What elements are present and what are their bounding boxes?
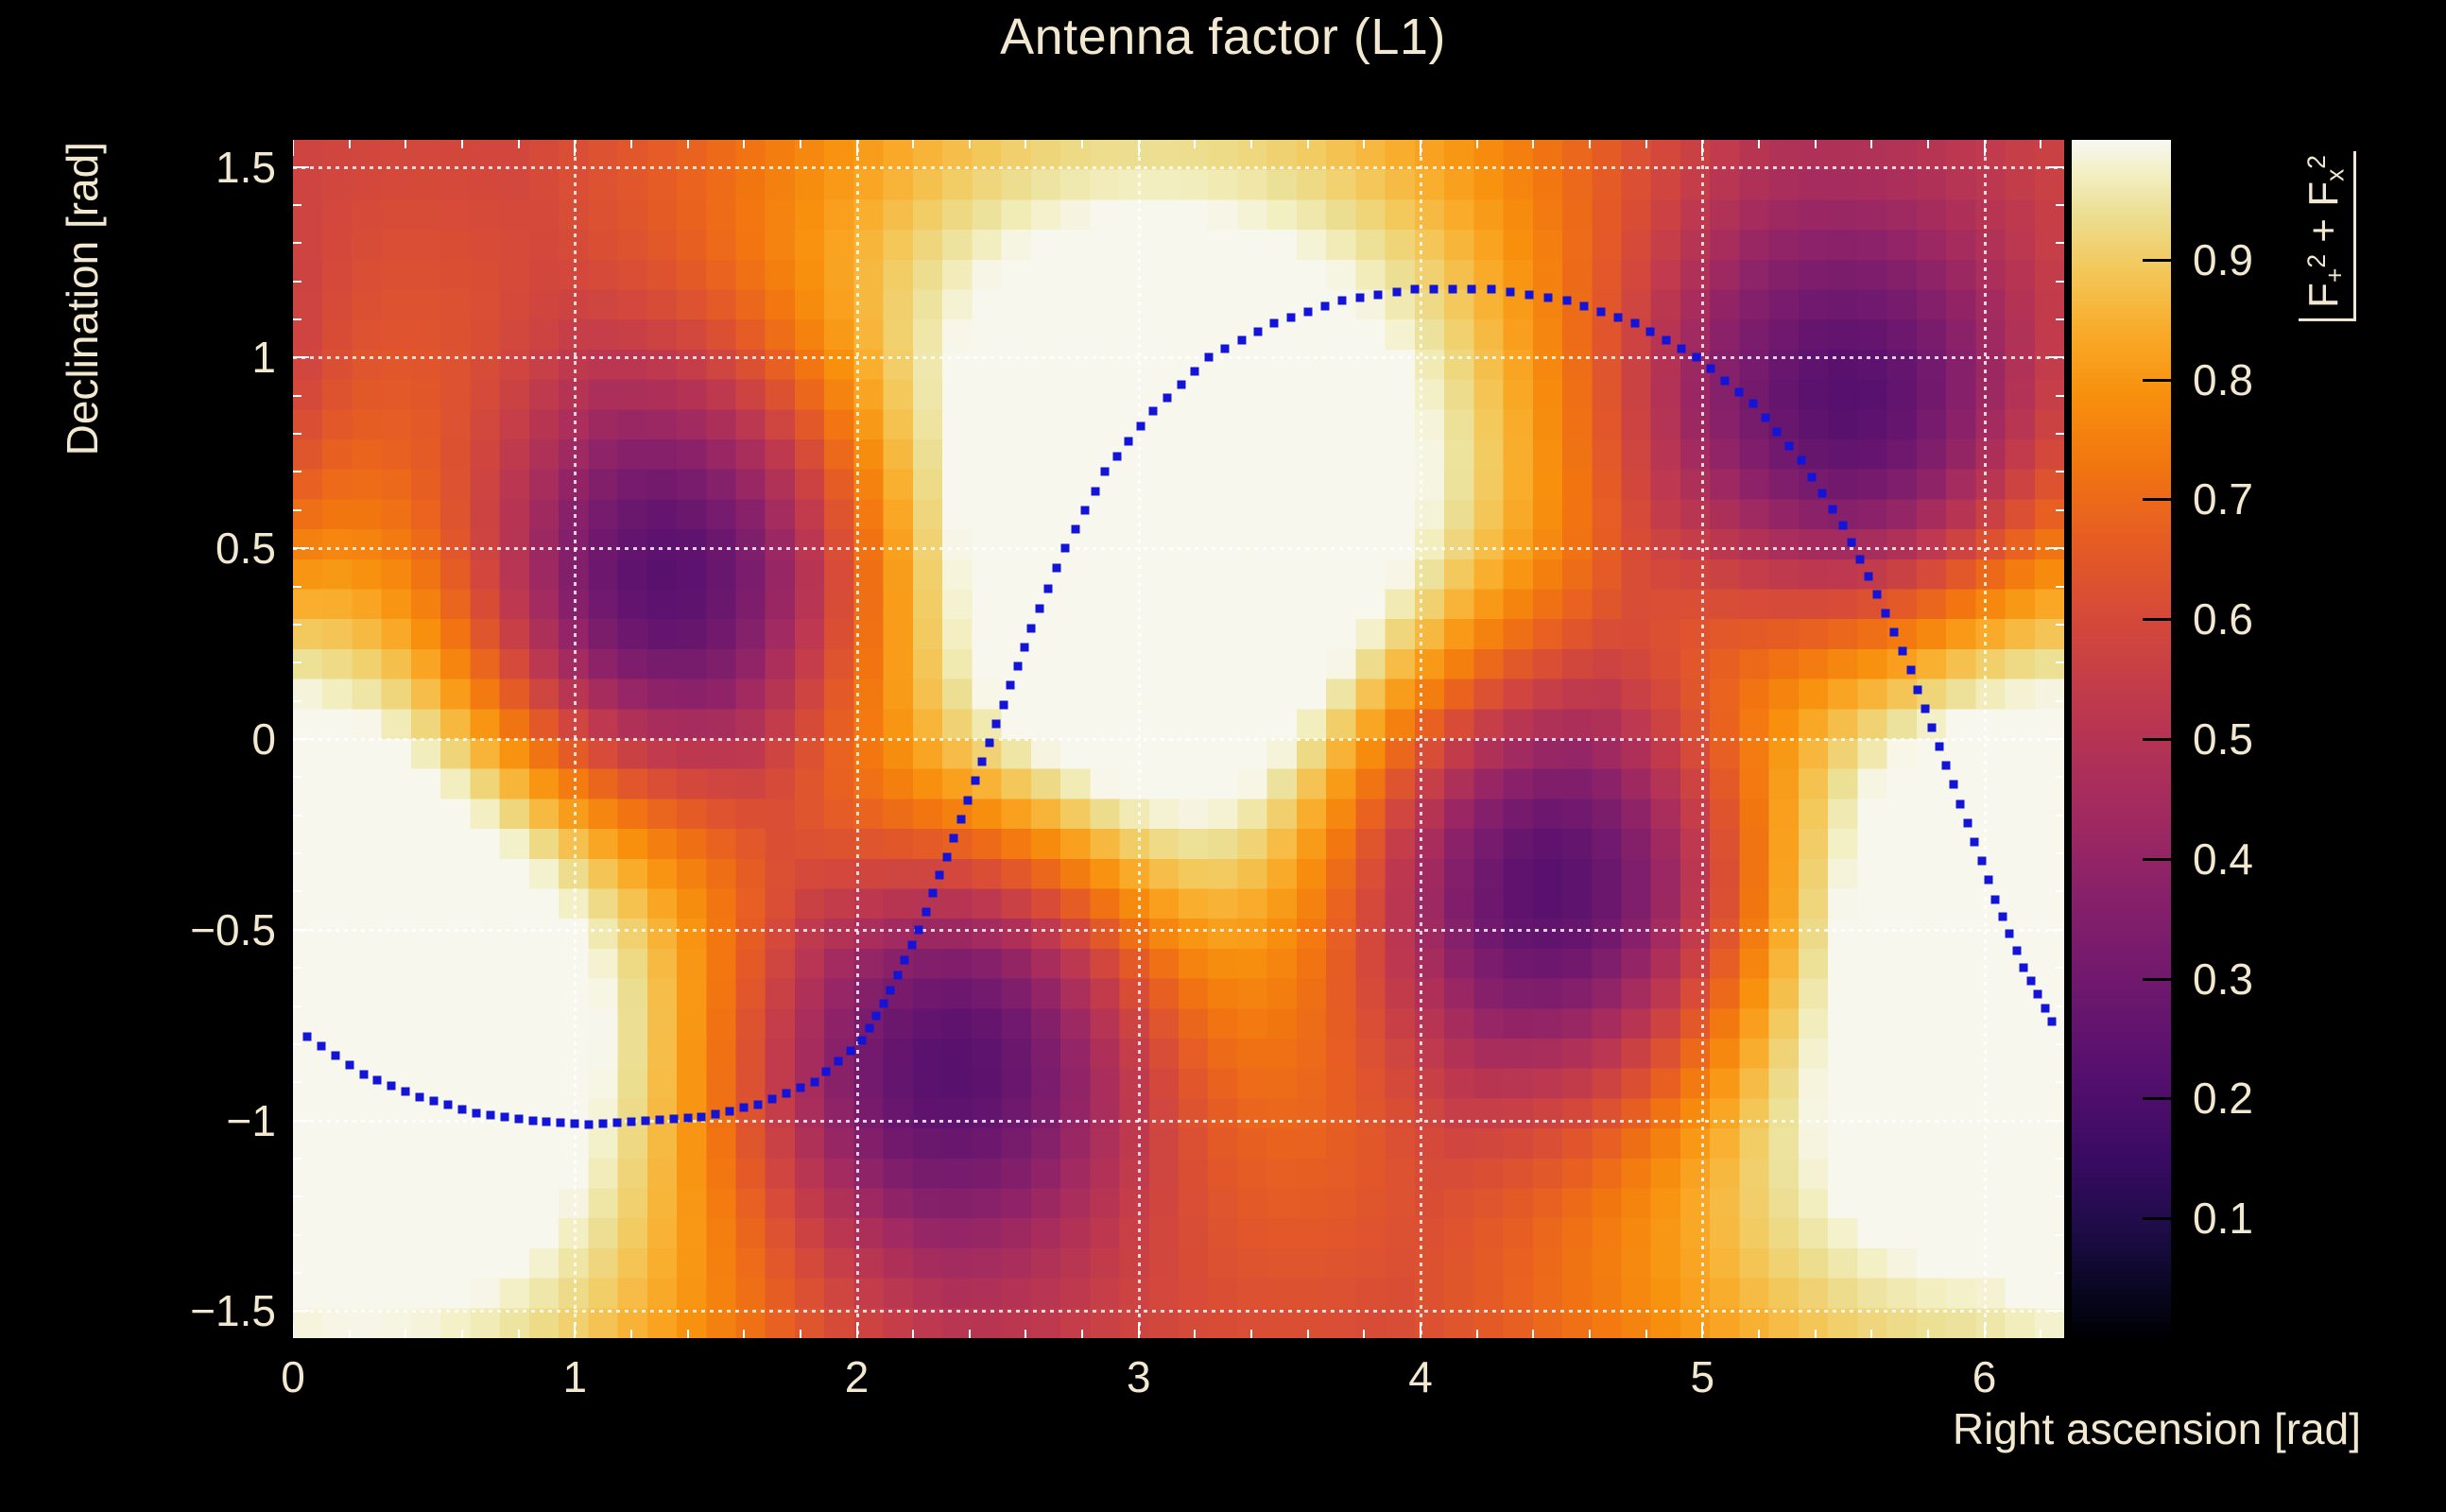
galactic-plane-marker <box>457 1105 466 1113</box>
galactic-plane-marker <box>907 940 916 949</box>
x-tick-label: 5 <box>1690 1351 1714 1402</box>
galactic-plane-marker <box>1721 376 1730 385</box>
galactic-plane-marker <box>1873 590 1882 598</box>
x-tick-label: 3 <box>1127 1351 1151 1402</box>
galactic-plane-marker <box>317 1041 325 1050</box>
galactic-plane-marker <box>1320 301 1329 310</box>
galactic-plane-marker <box>1221 345 1230 353</box>
galactic-plane-marker <box>1985 876 1993 885</box>
galactic-plane-marker <box>1337 296 1346 304</box>
galactic-plane-marker <box>1081 506 1090 514</box>
galactic-plane-marker <box>1027 624 1036 632</box>
galactic-plane-marker <box>500 1112 508 1121</box>
galactic-plane-marker <box>1856 556 1865 564</box>
galactic-plane-marker <box>901 956 909 965</box>
galactic-plane-marker <box>1269 319 1278 328</box>
galactic-plane-marker <box>1013 662 1022 671</box>
plus-operator: + <box>2300 207 2347 243</box>
colorbar-tick-label: 0.1 <box>2193 1193 2253 1244</box>
galactic-plane-marker <box>698 1112 706 1121</box>
galactic-plane-marker <box>1205 353 1214 362</box>
galactic-plane-marker <box>835 1057 843 1066</box>
colorbar-tick-label: 0.7 <box>2193 473 2253 524</box>
galactic-plane-marker <box>1487 284 1495 293</box>
colorbar-tick-mark <box>2143 498 2171 501</box>
galactic-plane-marker <box>1977 857 1986 866</box>
galactic-plane-marker <box>1303 307 1312 316</box>
galactic-plane-marker <box>893 971 902 980</box>
colorbar-tick-label: 0.8 <box>2193 354 2253 405</box>
galactic-plane-marker <box>810 1078 818 1087</box>
galactic-plane-marker <box>1906 666 1915 675</box>
f-cross-term: Fx2 <box>2300 155 2347 207</box>
galactic-plane-marker <box>486 1110 494 1119</box>
galactic-plane-marker <box>514 1114 523 1123</box>
galactic-plane-marker <box>1899 647 1907 656</box>
galactic-plane-marker <box>669 1114 678 1123</box>
galactic-plane-marker <box>1237 336 1246 345</box>
colorbar-tick-mark <box>2143 259 2171 262</box>
galactic-plane-marker <box>1137 422 1145 431</box>
galactic-plane-marker <box>971 777 979 785</box>
galactic-plane-marker <box>2020 964 2028 972</box>
galactic-plane-marker <box>887 987 895 995</box>
galactic-plane-marker <box>879 999 887 1007</box>
colorbar-tick-label: 0.2 <box>2193 1073 2253 1124</box>
galactic-plane-marker <box>2026 977 2035 986</box>
galactic-plane-marker <box>915 925 923 934</box>
galactic-plane-marker <box>1748 399 1757 407</box>
galactic-plane-marker <box>1543 293 1552 301</box>
galactic-plane-marker <box>1100 468 1109 476</box>
galactic-plane-marker <box>1177 380 1185 388</box>
galactic-plane-marker <box>1797 456 1805 465</box>
galactic-plane-marker <box>922 907 930 916</box>
galactic-plane-marker <box>1949 781 1957 789</box>
galactic-plane-marker <box>950 833 958 842</box>
colorbar-tick-mark <box>2143 618 2171 621</box>
galactic-plane-marker <box>2034 990 2042 999</box>
galactic-plane-marker <box>430 1097 439 1106</box>
galactic-plane-marker <box>1784 442 1793 451</box>
galactic-plane-marker <box>2048 1017 2057 1025</box>
galactic-plane-marker <box>1506 287 1514 296</box>
galactic-plane-marker <box>782 1090 790 1098</box>
galactic-plane-marker <box>1882 609 1890 617</box>
x-tick-label: 2 <box>845 1351 870 1402</box>
galactic-plane-marker <box>1761 413 1769 421</box>
galactic-plane-marker <box>1163 393 1171 402</box>
galactic-plane-marker <box>846 1046 854 1055</box>
galactic-plane-marker <box>1693 353 1701 362</box>
galactic-plane-marker <box>402 1088 410 1096</box>
colorbar-tick-label: 0.4 <box>2193 833 2253 885</box>
y-axis-title: Declination [rad] <box>57 142 108 455</box>
y-tick-label: 1 <box>251 332 276 383</box>
galactic-plane-marker <box>557 1118 565 1126</box>
galactic-plane-marker <box>1580 301 1589 310</box>
galactic-plane-marker <box>1374 290 1383 299</box>
x-axis-title: Right ascension [rad] <box>1953 1403 2361 1454</box>
colorbar <box>2072 140 2171 1338</box>
colorbar-tick-mark <box>2143 379 2171 382</box>
galactic-plane-marker <box>1735 387 1744 396</box>
galactic-plane-marker <box>2041 1004 2049 1012</box>
galactic-plane-marker <box>1091 487 1099 495</box>
galactic-plane-marker <box>1524 290 1533 299</box>
galactic-plane-marker <box>1818 489 1827 497</box>
galactic-plane-marker <box>858 1036 867 1044</box>
galactic-plane-marker <box>1865 573 1873 581</box>
galactic-plane-marker <box>1596 307 1605 316</box>
galactic-plane-marker <box>1935 743 1943 751</box>
galactic-plane-marker <box>1286 314 1295 322</box>
colorbar-tick-mark <box>2143 1097 2171 1100</box>
colorbar-tick-mark <box>2143 978 2171 981</box>
galactic-plane-marker <box>1125 438 1133 446</box>
y-tick-label: 0 <box>251 713 276 765</box>
colorbar-tick-mark <box>2143 858 2171 861</box>
galactic-plane-marker <box>1148 406 1157 415</box>
galactic-plane-marker <box>641 1116 649 1125</box>
galactic-plane-marker <box>612 1118 621 1126</box>
galactic-plane-marker <box>1829 505 1837 513</box>
galactic-plane-marker <box>964 796 973 804</box>
y-tick-label: −1.5 <box>190 1285 276 1336</box>
galactic-plane-marker <box>1707 365 1715 373</box>
galactic-plane-marker <box>416 1093 424 1102</box>
galactic-plane-marker <box>1044 584 1053 593</box>
galactic-plane-marker <box>712 1109 720 1118</box>
galactic-plane-marker <box>571 1119 579 1127</box>
galactic-plane-marker <box>1007 681 1015 690</box>
galactic-plane-marker <box>1468 284 1476 293</box>
galactic-plane-marker <box>1963 818 1972 827</box>
galactic-plane-marker <box>1430 284 1438 293</box>
sqrt-symbol: F+2 + Fx2 <box>2297 151 2360 321</box>
galactic-plane-marker <box>1613 314 1622 322</box>
galactic-plane-marker <box>1646 328 1655 336</box>
galactic-plane-marker <box>1942 762 1951 770</box>
colorbar-tick-mark <box>2143 1217 2171 1220</box>
galactic-plane-marker <box>796 1084 804 1092</box>
galactic-plane-marker <box>754 1101 763 1109</box>
page-title: Antenna factor (L1) <box>0 8 2446 66</box>
y-tick-label: 1.5 <box>215 142 276 193</box>
chart-canvas: Antenna factor (L1) 0123456 1.510.50−0.5… <box>0 0 2446 1512</box>
galactic-plane-marker <box>1020 644 1028 652</box>
galactic-plane-marker <box>388 1082 396 1091</box>
colorbar-tick-mark <box>2143 738 2171 741</box>
y-tick-label: 0.5 <box>215 523 276 574</box>
galactic-plane-marker <box>822 1068 831 1076</box>
colorbar-tick-label: 0.6 <box>2193 593 2253 644</box>
galactic-plane-marker <box>2006 929 2014 937</box>
galactic-plane-marker <box>1956 799 1965 808</box>
galactic-plane-marker <box>1890 627 1899 636</box>
galactic-plane-marker <box>373 1076 382 1085</box>
galactic-plane-marker <box>1563 296 1572 304</box>
galactic-plane-marker <box>1411 284 1420 293</box>
galactic-plane-marker <box>1677 345 1685 353</box>
galactic-plane-marker <box>627 1117 635 1125</box>
galactic-plane-marker <box>655 1115 663 1124</box>
galactic-plane-marker <box>942 853 951 862</box>
galactic-plane-marker <box>1662 336 1670 345</box>
galactic-plane-marker <box>1998 912 2007 920</box>
galactic-plane-marker <box>985 739 993 747</box>
y-tick-label: −1 <box>227 1095 276 1146</box>
x-tick-label: 1 <box>562 1351 587 1402</box>
galactic-plane-marker <box>1991 895 2000 903</box>
galactic-plane-marker <box>999 700 1008 709</box>
galactic-plane-marker <box>740 1104 749 1112</box>
galactic-plane-marker <box>331 1052 339 1060</box>
galactic-plane-marker <box>1112 453 1121 461</box>
galactic-plane-marker <box>1848 539 1856 547</box>
galactic-plane-marker <box>1253 328 1262 336</box>
galactic-plane-marker <box>1355 293 1364 301</box>
galactic-plane-marker <box>956 815 965 823</box>
galactic-plane-marker <box>683 1113 692 1122</box>
galactic-plane-marker <box>1971 837 1979 846</box>
galactic-plane-marker <box>585 1120 594 1128</box>
galactic-plane-marker <box>543 1117 551 1125</box>
galactic-plane-marker <box>528 1116 537 1125</box>
galactic-plane-marker <box>1773 428 1782 437</box>
colorbar-tick-label: 0.9 <box>2193 234 2253 285</box>
galactic-plane-marker <box>1630 319 1639 328</box>
heatmap-plot-area <box>293 140 2064 1338</box>
galactic-plane-marker <box>1036 604 1044 612</box>
galactic-plane-marker <box>1053 564 1061 573</box>
galactic-plane-marker <box>1921 704 1929 713</box>
galactic-plane-marker <box>1392 287 1401 296</box>
galactic-plane-marker <box>1839 521 1848 529</box>
galactic-plane-marker <box>472 1108 480 1117</box>
galactic-plane-marker <box>1449 284 1457 293</box>
y-tick-label: −0.5 <box>190 904 276 955</box>
galactic-plane-marker <box>768 1095 777 1104</box>
galactic-plane-marker <box>978 758 987 766</box>
galactic-plane-marker <box>1071 525 1079 534</box>
galactic-plane-marker <box>599 1119 608 1127</box>
galactic-plane-marker <box>1928 723 1937 731</box>
galactic-plane-marker <box>1061 544 1070 553</box>
x-tick-label: 0 <box>281 1351 305 1402</box>
galactic-plane-marker <box>992 719 1001 728</box>
galactic-plane-marker <box>726 1107 734 1115</box>
galactic-plane-marker <box>872 1011 881 1020</box>
x-tick-label: 6 <box>1972 1351 1997 1402</box>
galactic-plane-marker <box>444 1101 453 1109</box>
galactic-plane-marker <box>302 1032 311 1040</box>
colorbar-tick-label: 0.3 <box>2193 954 2253 1005</box>
galactic-plane-marker <box>936 871 944 880</box>
colorbar-title: F+2 + Fx2 <box>2297 151 2360 321</box>
galactic-plane-marker <box>1191 367 1199 375</box>
heatmap-image <box>293 140 2064 1338</box>
galactic-plane-marker <box>359 1071 368 1079</box>
galactic-plane-marker <box>345 1061 353 1070</box>
galactic-plane-marker <box>865 1023 873 1032</box>
x-tick-label: 4 <box>1408 1351 1433 1402</box>
f-plus-term: F+2 <box>2300 254 2347 308</box>
galactic-plane-marker <box>929 889 938 898</box>
galactic-plane-marker <box>2012 947 2021 955</box>
galactic-plane-marker <box>1914 685 1922 694</box>
colorbar-tick-label: 0.5 <box>2193 713 2253 765</box>
galactic-plane-marker <box>1807 472 1816 481</box>
